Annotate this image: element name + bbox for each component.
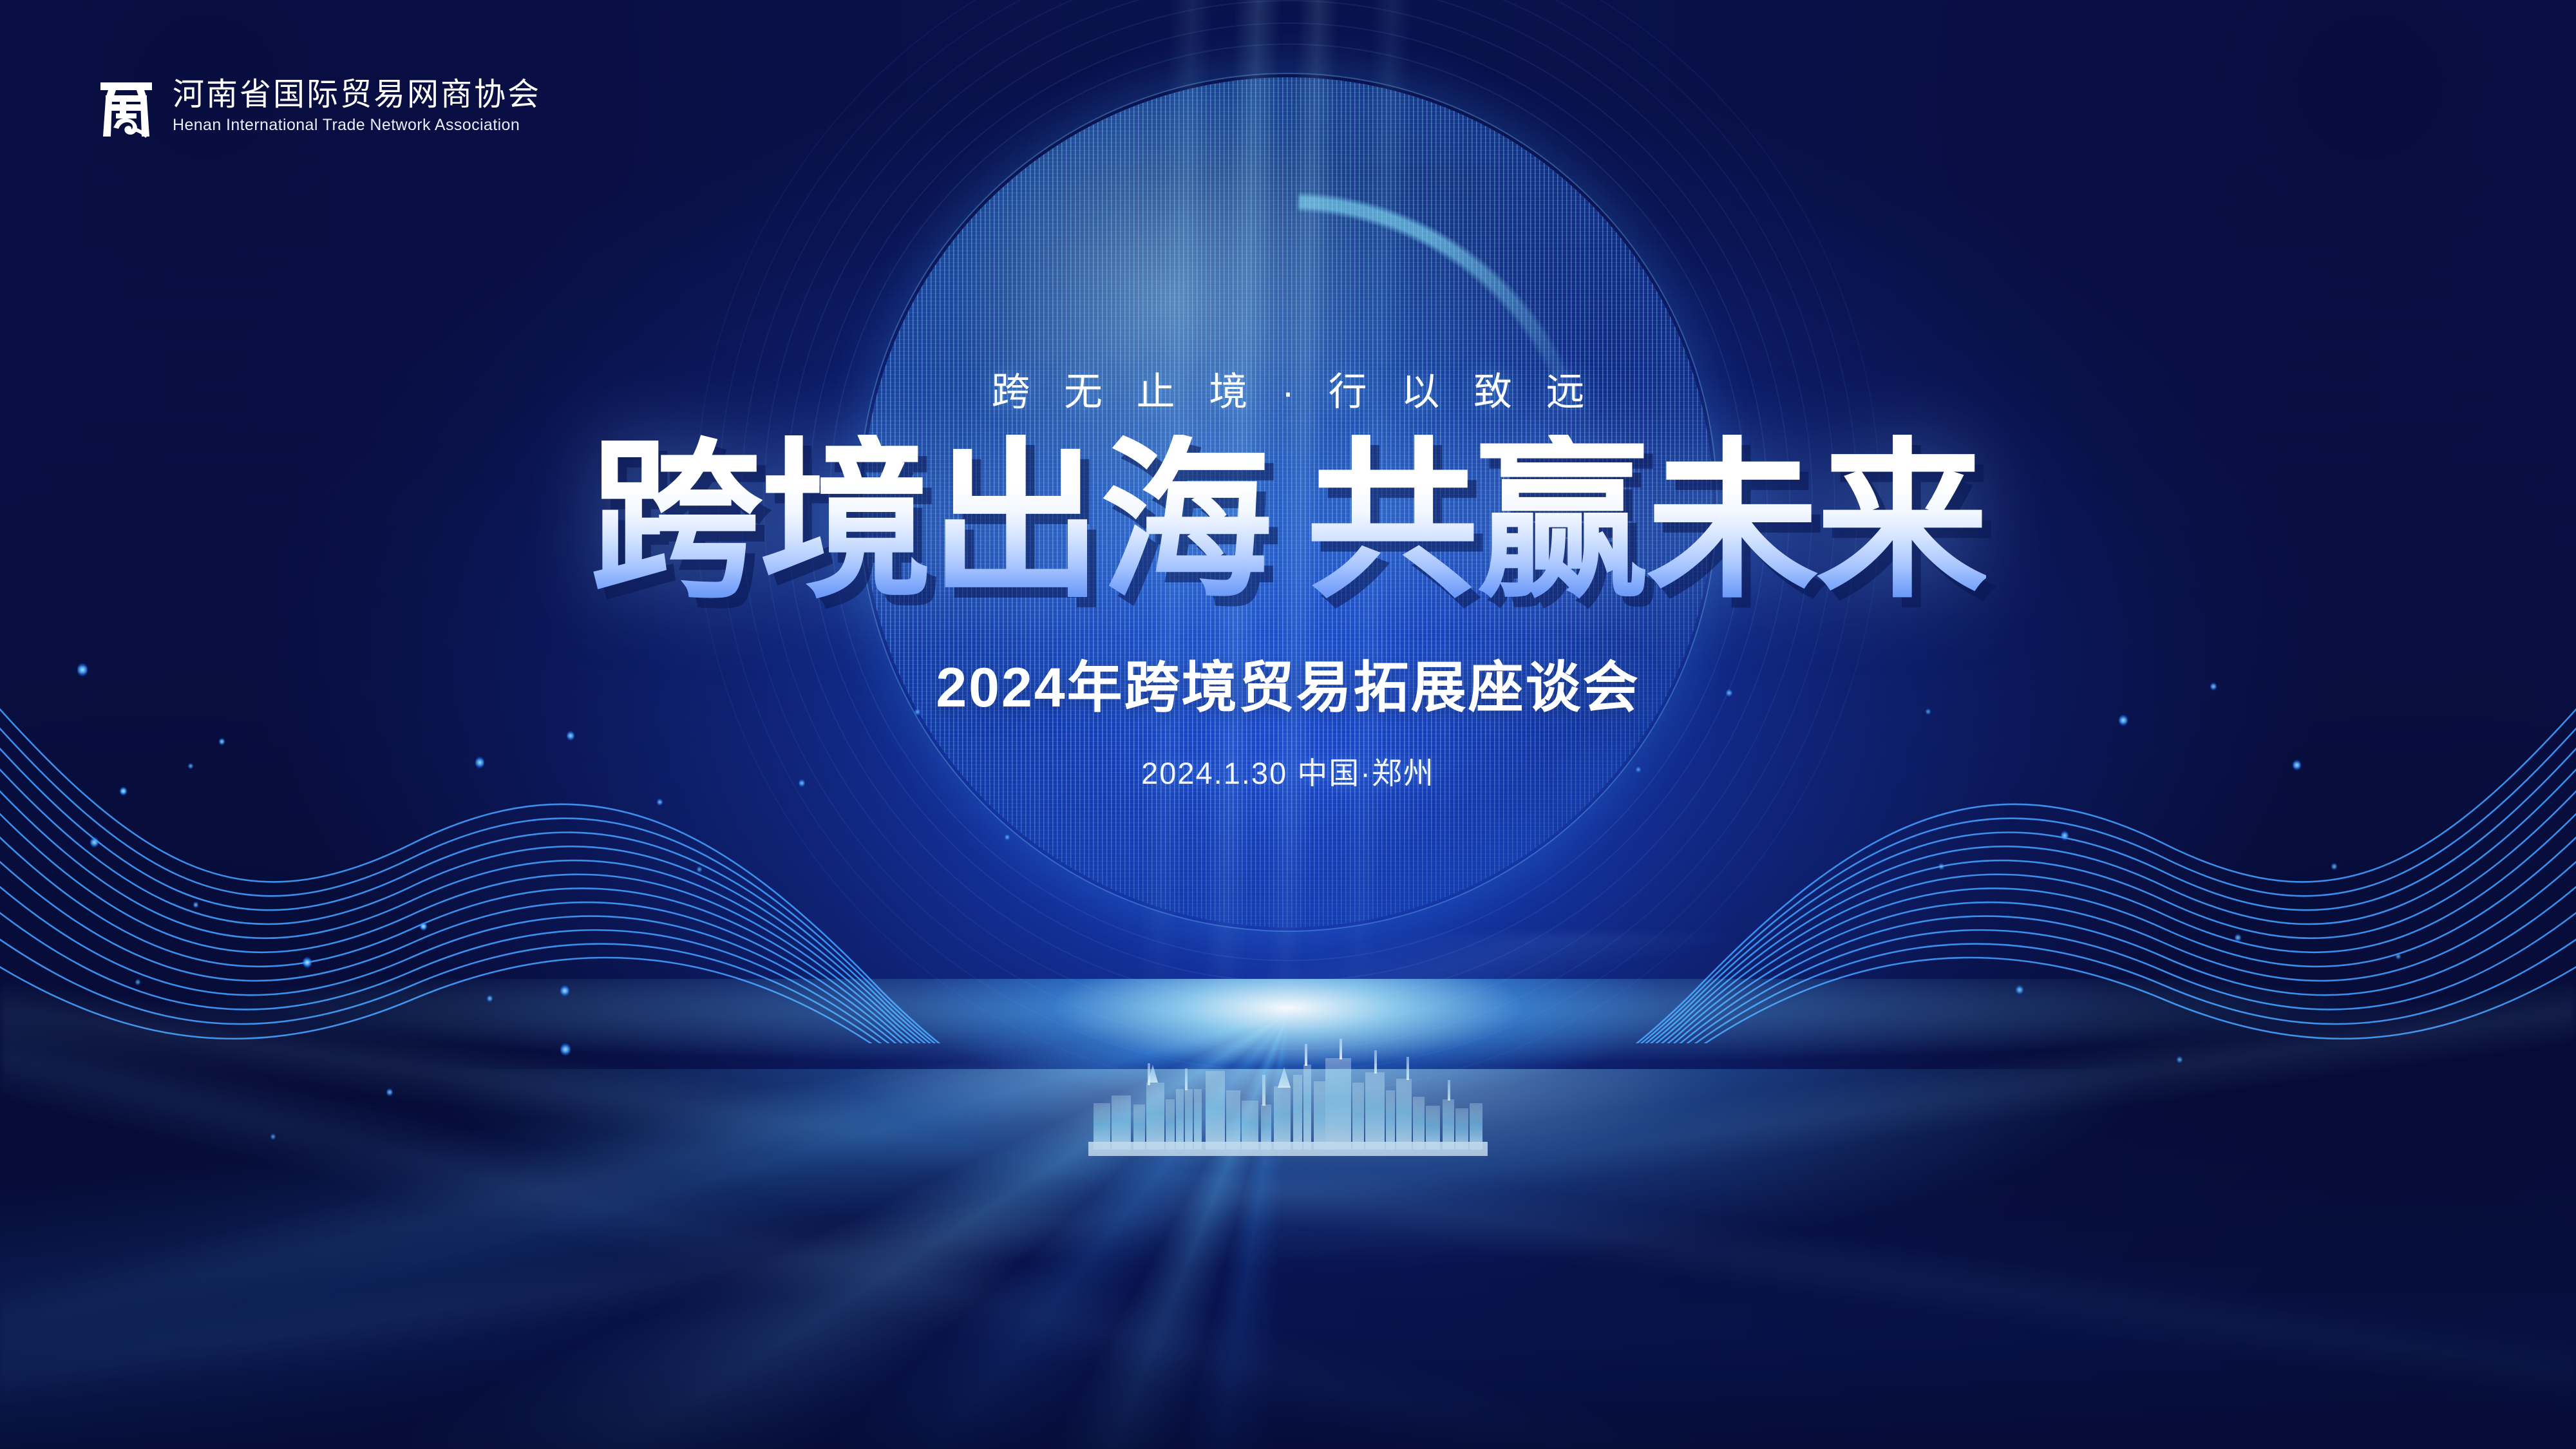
banner-content: 跨 无 止 境 · 行 以 致 远 跨境出海 共赢未来 2024年跨境贸易拓展座… (0, 0, 2576, 793)
headline: 跨境出海 共赢未来 (0, 435, 2576, 607)
event-banner: 河南省国际贸易网商协会 Henan International Trade Ne… (0, 0, 2576, 1449)
event-subtitle: 2024年跨境贸易拓展座谈会 (0, 642, 2576, 723)
event-datetime-location: 2024.1.30 中国·郑州 (0, 748, 2576, 793)
tagline: 跨 无 止 境 · 行 以 致 远 (0, 361, 2576, 417)
headline-part-1: 跨境出海 (590, 435, 1270, 607)
headline-part-2: 共赢未来 (1306, 435, 1986, 607)
